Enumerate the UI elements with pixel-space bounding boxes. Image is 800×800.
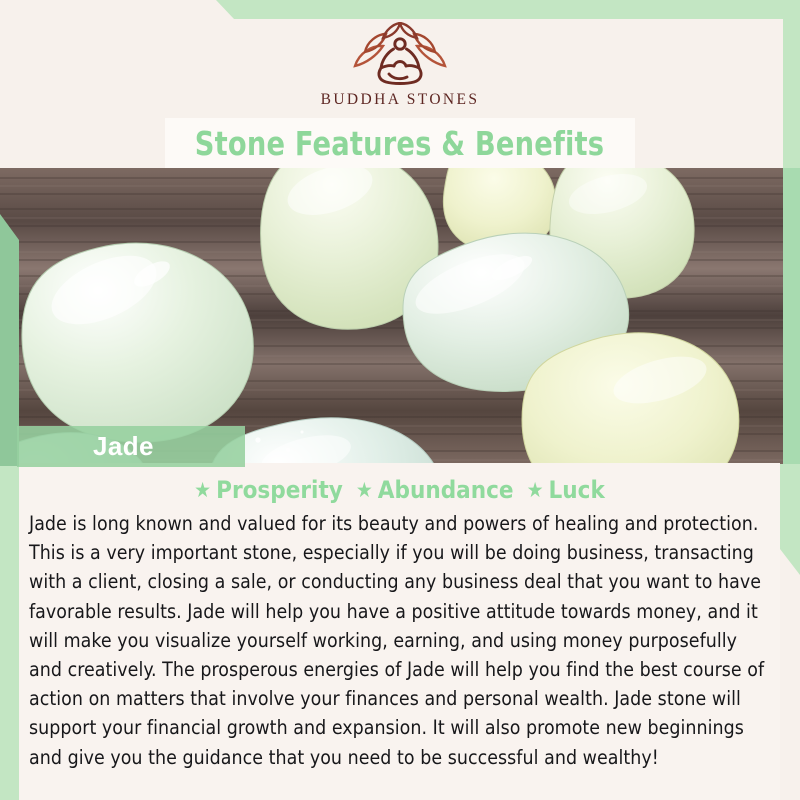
benefit-label: Prosperity — [216, 476, 343, 504]
stone-info-poster: BUDDHA STONES — [0, 0, 800, 800]
page-title: Stone Features & Benefits — [195, 124, 604, 163]
top-green-band — [0, 0, 800, 19]
right-body-green-band — [780, 463, 800, 575]
stone-description: Jade is long known and valued for its be… — [25, 509, 774, 772]
star-icon: ★ — [527, 480, 544, 501]
stone-name-label: Jade — [93, 431, 154, 462]
right-photo-green-band — [783, 168, 800, 464]
benefit-label: Luck — [549, 476, 605, 504]
content-panel: ★ Prosperity ★ Abundance ★ Luck Jade is … — [19, 463, 780, 800]
jade-stones-illustration — [0, 168, 783, 464]
stone-name-chip: Jade — [17, 426, 245, 467]
lotus-meditation-icon — [341, 22, 459, 88]
title-banner: Stone Features & Benefits — [165, 118, 635, 168]
benefit-item: ★ Prosperity — [194, 476, 343, 504]
brand-lockup: BUDDHA STONES — [0, 22, 800, 118]
benefit-item: ★ Luck — [527, 476, 605, 504]
benefit-label: Abundance — [378, 476, 514, 504]
jade-stones-photo — [0, 168, 783, 464]
left-body-green-band — [0, 463, 19, 800]
brand-name: BUDDHA STONES — [321, 91, 480, 109]
star-icon: ★ — [356, 480, 373, 501]
benefits-list: ★ Prosperity ★ Abundance ★ Luck — [25, 476, 774, 504]
star-icon: ★ — [194, 480, 211, 501]
benefit-item: ★ Abundance — [356, 476, 514, 504]
